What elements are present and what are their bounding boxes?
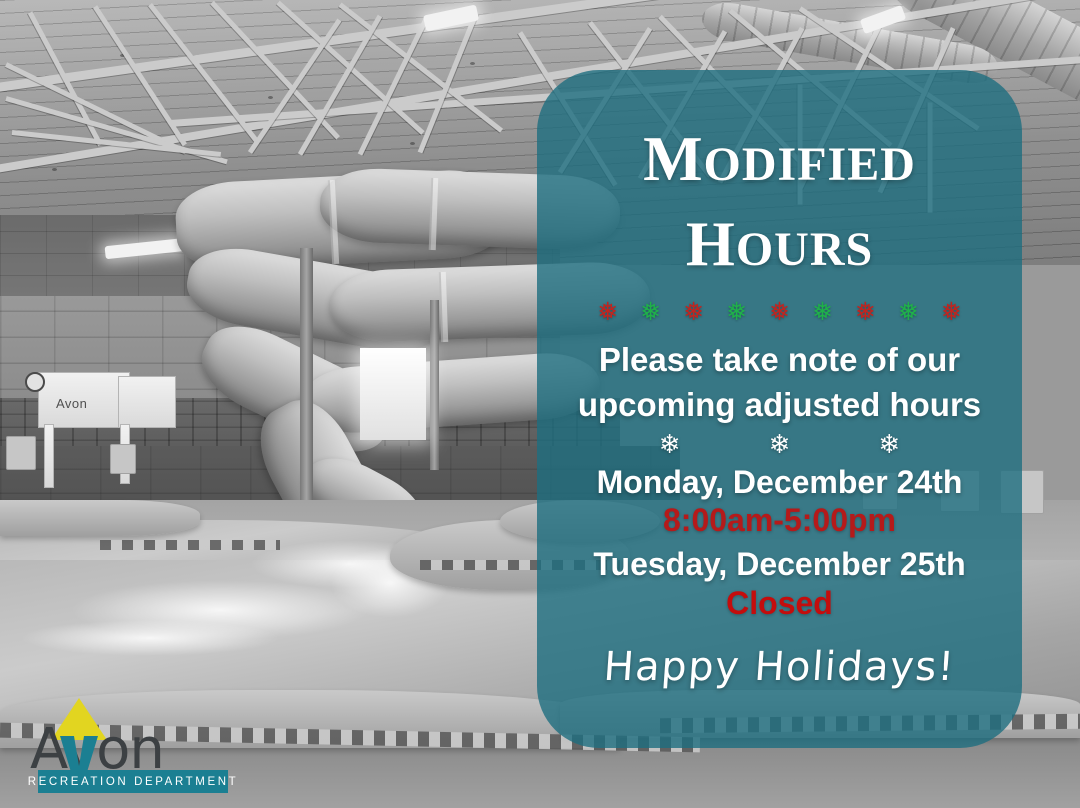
ceiling-knot bbox=[268, 96, 273, 99]
ceiling-knot bbox=[470, 62, 475, 65]
snowflake-icon: ❅ bbox=[898, 300, 919, 325]
schedule-date-2: Tuesday, December 25th bbox=[555, 547, 1004, 583]
snowflake-icon: ❅ bbox=[941, 300, 962, 325]
title-initial-h: H bbox=[686, 209, 736, 279]
panel-title-line-2: HOURS bbox=[555, 213, 1004, 276]
slide-support-post bbox=[300, 248, 313, 508]
deck-chair bbox=[6, 436, 36, 470]
pool-tile-border bbox=[100, 540, 280, 550]
daylight-window bbox=[360, 348, 426, 440]
snowflake-icon: ❅ bbox=[812, 300, 833, 325]
ceiling-knot bbox=[410, 142, 415, 145]
modified-hours-panel: MODIFIED HOURS ❅ ❅ ❅ ❅ ❅ ❅ ❅ ❅ ❅ Please … bbox=[537, 70, 1022, 748]
snowflake-divider-top: ❅ ❅ ❅ ❅ ❅ ❅ ❅ ❅ ❅ bbox=[555, 300, 1004, 325]
poster-canvas: Avon MODIFIED HOURS ❅ ❅ ❅ ❅ ❅ ❅ ❅ ❅ ❅ Pl… bbox=[0, 0, 1080, 808]
pool-curb bbox=[0, 500, 200, 536]
holiday-greeting: Happy Holidays! bbox=[553, 644, 1005, 690]
title-rest-modified: ODIFIED bbox=[704, 138, 916, 191]
snowflake-icon: ❅ bbox=[726, 300, 747, 325]
schedule-hours-2: Closed bbox=[555, 586, 1004, 622]
snowflake-icon: ❄ bbox=[659, 431, 681, 457]
logo-banner-text: RECREATION DEPARTMENT bbox=[28, 776, 239, 788]
panel-body-line-1: Please take note of our bbox=[555, 341, 1004, 380]
sign-post bbox=[44, 424, 54, 488]
slide-support-post bbox=[430, 300, 439, 470]
deck-chair bbox=[110, 444, 136, 474]
snowflake-icon: ❄ bbox=[769, 431, 791, 457]
panel-body-line-2: upcoming adjusted hours bbox=[555, 386, 1004, 425]
snowflake-icon: ❅ bbox=[597, 300, 618, 325]
snowflake-icon: ❄ bbox=[878, 431, 900, 457]
title-initial-m: M bbox=[643, 124, 703, 194]
avon-recreation-logo: Avon RECREATION DEPARTMENT bbox=[30, 714, 230, 796]
panel-title-line-1: MODIFIED bbox=[555, 128, 1004, 191]
snowflake-icon: ❅ bbox=[769, 300, 790, 325]
snowflake-icon: ❅ bbox=[640, 300, 661, 325]
ceiling-knot bbox=[52, 168, 57, 171]
snowflake-icon: ❅ bbox=[683, 300, 704, 325]
schedule-date-1: Monday, December 24th bbox=[555, 465, 1004, 501]
snowflake-divider-mid: ❄ ❄ ❄ bbox=[555, 431, 1004, 457]
logo-banner: RECREATION DEPARTMENT bbox=[38, 770, 228, 793]
sign-box-label: Avon bbox=[56, 396, 87, 411]
title-rest-hours: OURS bbox=[736, 223, 873, 276]
wall-clock bbox=[25, 372, 45, 392]
schedule-hours-1: 8:00am-5:00pm bbox=[555, 503, 1004, 539]
pool-sign-box-side bbox=[118, 376, 176, 428]
snowflake-icon: ❅ bbox=[855, 300, 876, 325]
water-foam bbox=[20, 620, 280, 656]
